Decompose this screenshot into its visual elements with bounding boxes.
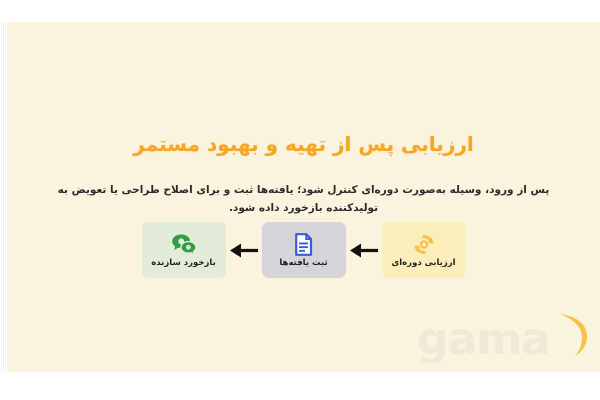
flow-step-label: ارزیابی دوره‌ای	[391, 259, 455, 269]
flow-step-record-findings[interactable]: ثبت یافته‌ها	[262, 222, 346, 278]
refresh-cycle-icon	[411, 232, 437, 256]
slide-canvas: ارزیابی پس از تهیه و بهبود مستمر پس از و…	[7, 22, 600, 372]
flow-arrow-left-icon	[226, 242, 262, 259]
flow-arrow-left-icon	[346, 242, 382, 259]
speech-bubbles-icon	[171, 232, 197, 256]
slide-viewer: ارزیابی پس از تهیه و بهبود مستمر پس از و…	[0, 0, 600, 400]
watermark-text: gama	[417, 318, 550, 362]
watermark-swoosh-icon	[556, 312, 590, 362]
document-icon	[291, 232, 317, 256]
gama-watermark: gama	[417, 312, 592, 368]
page-gutter-line	[3, 22, 4, 372]
slide-body-text: پس از ورود، وسیله به‌صورت دوره‌ای کنترل …	[57, 181, 550, 218]
page-gutter-line	[1, 22, 2, 372]
page-gutter-line	[5, 22, 6, 372]
flow-step-periodic-evaluation[interactable]: ارزیابی دوره‌ای	[382, 222, 466, 278]
slide-title: ارزیابی پس از تهیه و بهبود مستمر	[7, 131, 600, 157]
flow-step-constructive-feedback[interactable]: بازخورد سازنده	[142, 222, 226, 278]
flow-step-label: بازخورد سازنده	[151, 259, 216, 269]
flow-step-label: ثبت یافته‌ها	[279, 259, 327, 269]
process-flow-diagram: ارزیابی دوره‌ای	[7, 222, 600, 278]
